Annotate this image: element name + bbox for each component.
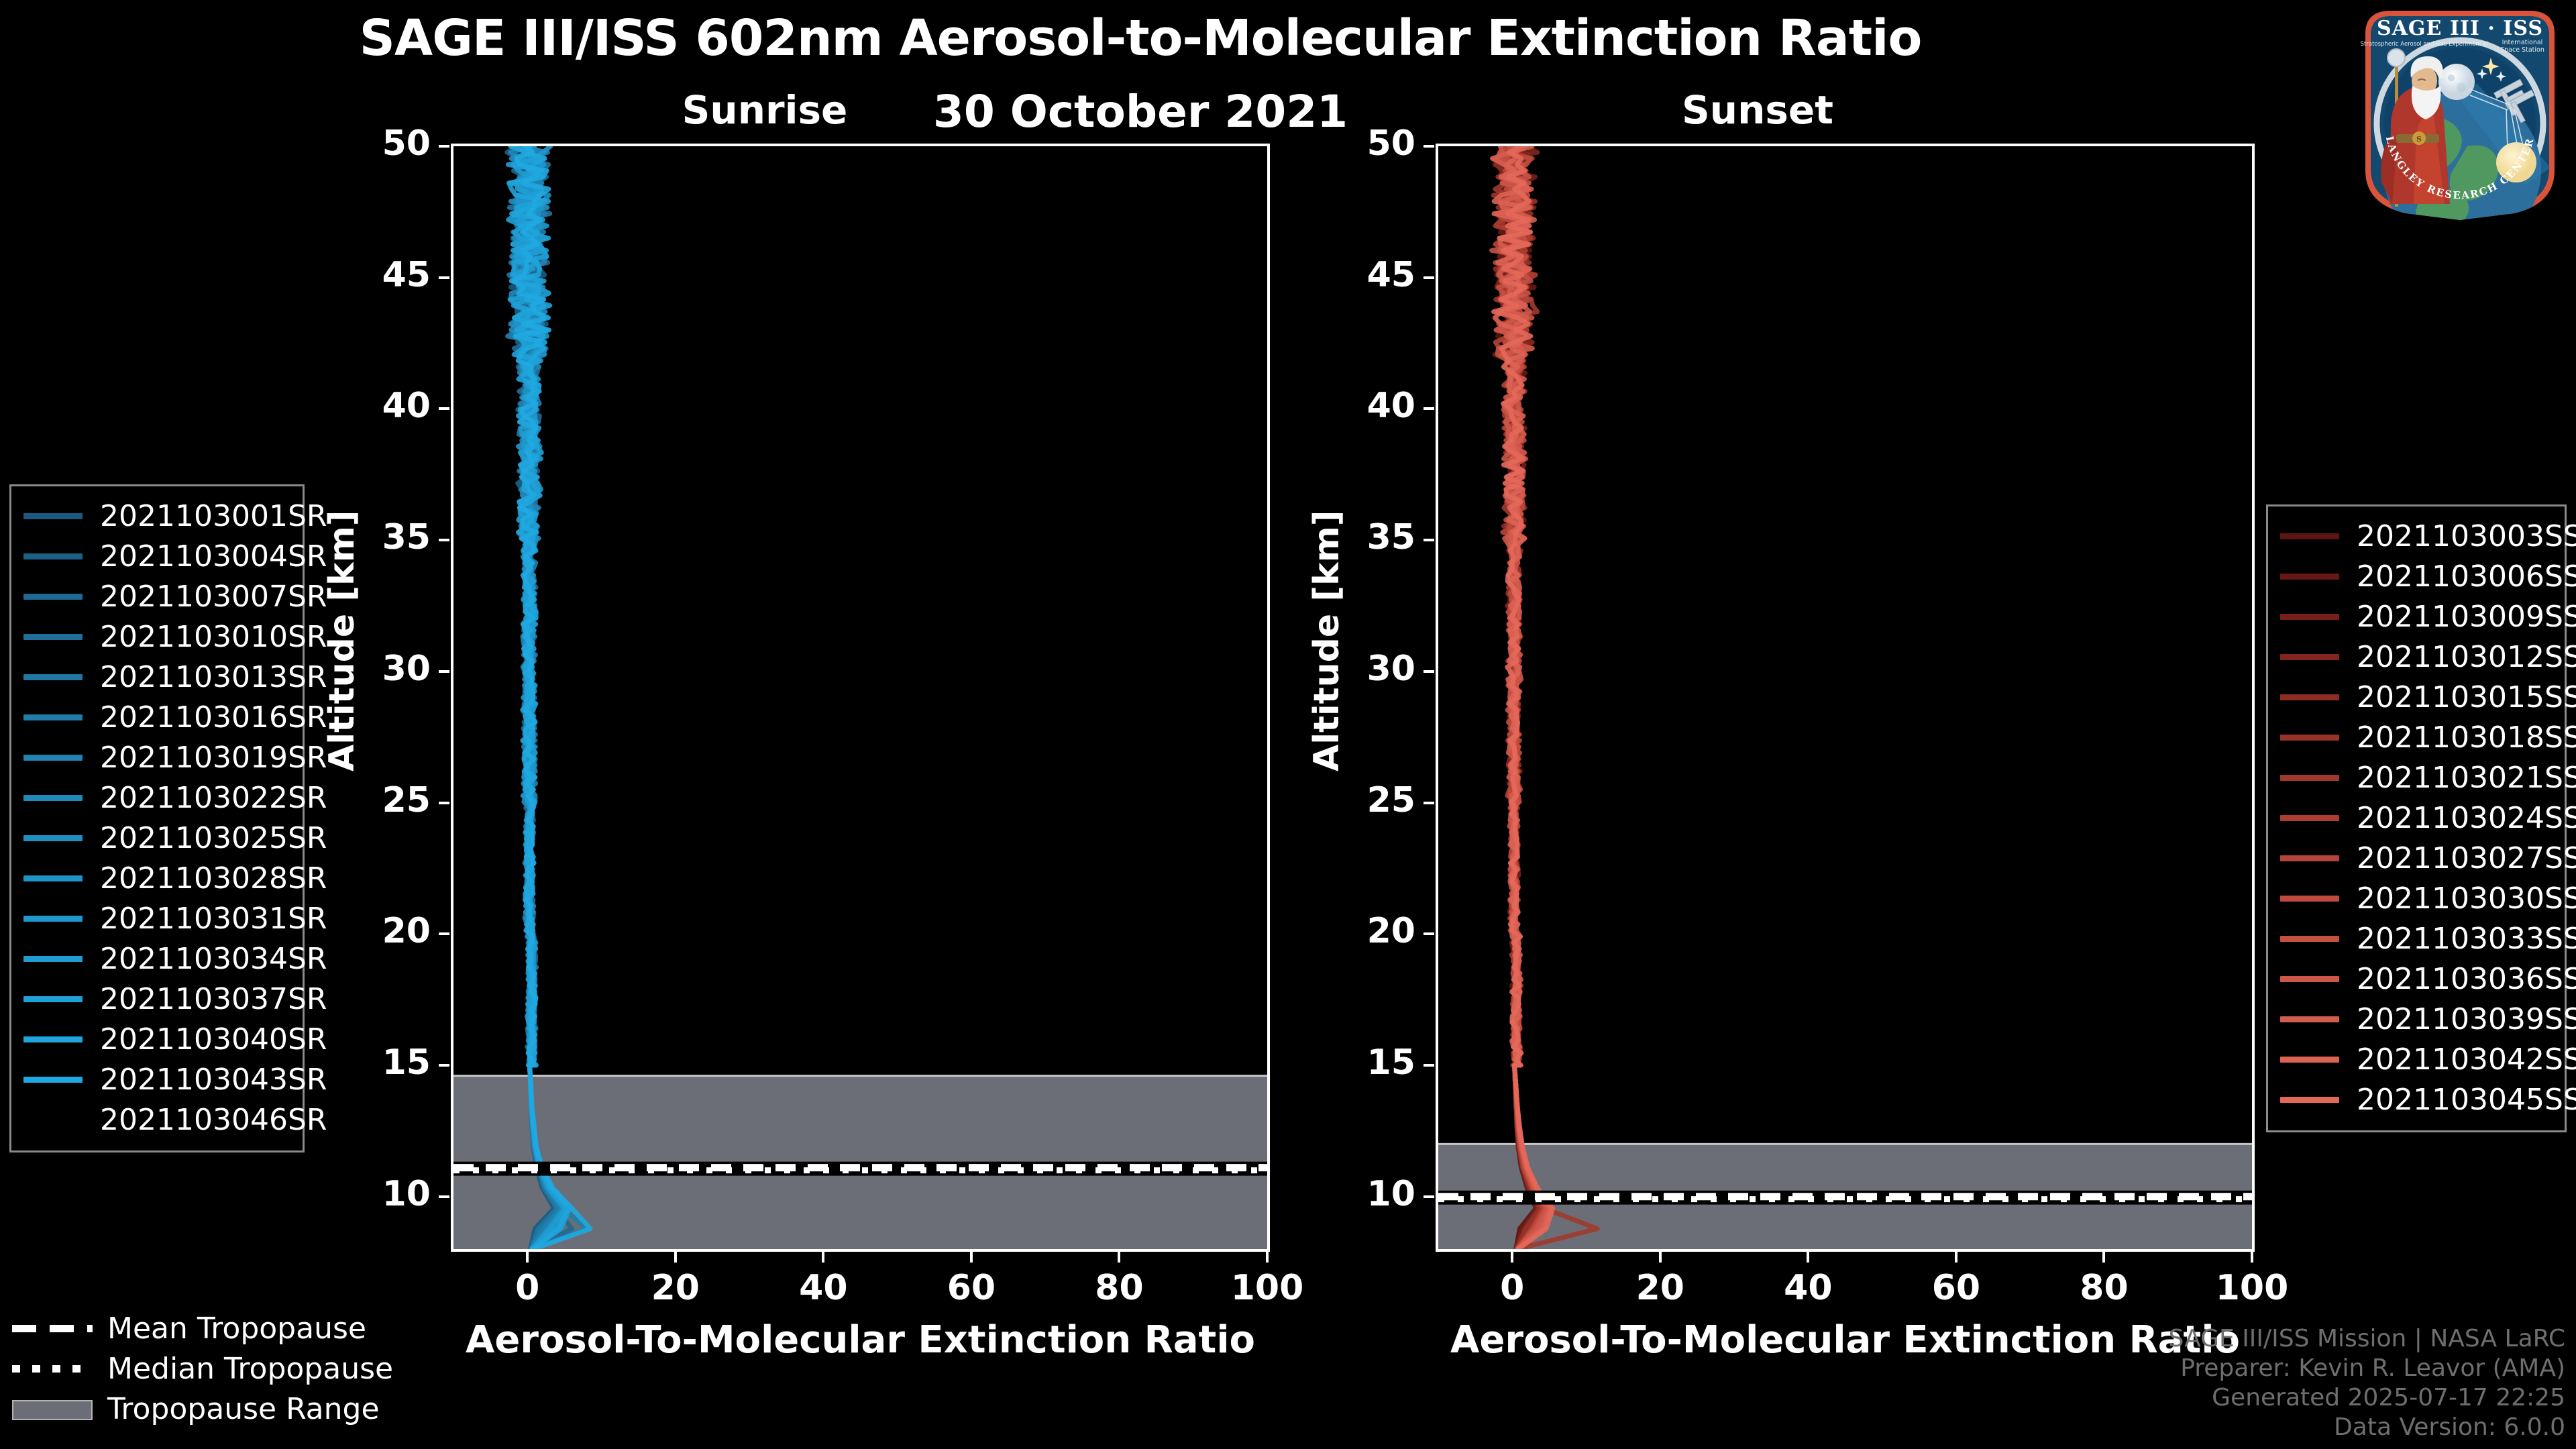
legend-item-label: 2021103027SS (2357, 841, 2576, 875)
panel-label-sunrise: Sunrise (563, 87, 966, 133)
legend-color-swatch (2280, 1097, 2339, 1103)
x-tick-mark (526, 1252, 529, 1263)
legend-item-label: 2021103046SR (100, 1103, 327, 1137)
y-tick-label: 50 (1328, 123, 1415, 164)
legend-sunrise-item[interactable]: 2021103019SR (23, 737, 290, 777)
plot-canvas-sunset (1438, 146, 2252, 1249)
page-title: SAGE III/ISS 602nm Aerosol-to-Molecular … (0, 9, 2281, 67)
y-tick-mark (1424, 539, 1434, 541)
x-tick-mark (2251, 1252, 2253, 1263)
legend-item-label: 2021103042SS (2357, 1042, 2576, 1077)
logo-subtitle-right-2: Space Station (2500, 46, 2544, 54)
y-tick-mark (439, 539, 449, 541)
legend-item-label: 2021103030SS (2357, 881, 2576, 916)
y-tick-label: 25 (343, 780, 431, 820)
legend-item-label: 2021103016SR (100, 700, 327, 735)
legend-color-swatch (23, 513, 83, 519)
legend-color-swatch (2280, 815, 2339, 821)
legend-item-label: 2021103028SR (100, 861, 327, 896)
legend-color-swatch (23, 835, 83, 841)
legend-color-swatch (2280, 735, 2339, 741)
legend-color-swatch (2280, 1016, 2339, 1022)
x-tick-label: 100 (2185, 1268, 2319, 1308)
legend-sunrise-item[interactable]: 2021103043SR (23, 1059, 290, 1099)
legend-sunrise-item[interactable]: 2021103010SR (23, 616, 290, 657)
y-tick-mark (1424, 145, 1434, 148)
legend-color-swatch (23, 634, 83, 640)
legend-color-swatch (23, 553, 83, 559)
x-axis-title-sunrise: Aerosol-To-Molecular Extinction Ratio (451, 1318, 1270, 1362)
legend-sunrise-item[interactable]: 2021103028SR (23, 858, 290, 898)
legend-color-swatch (2280, 775, 2339, 781)
legend-item-label: 2021103033SS (2357, 922, 2576, 956)
legend-color-swatch (23, 755, 83, 761)
credit-line-generated: Generated 2025-07-17 22:25 (2169, 1383, 2565, 1413)
x-tick-label: 80 (1052, 1268, 1186, 1308)
tropopause-legend-key (12, 1360, 93, 1377)
legend-sunrise-item[interactable]: 2021103004SR (23, 536, 290, 576)
tropopause-legend-label: Median Tropopause (107, 1352, 393, 1386)
sage-iii-iss-logo: S SAGE III · ISS Stratospheric Aerosol a… (2349, 3, 2571, 224)
y-tick-label: 35 (1328, 517, 1415, 557)
y-tick-mark (1424, 407, 1434, 410)
legend-color-swatch (23, 714, 83, 720)
y-tick-mark (1424, 932, 1434, 935)
x-tick-mark (1511, 1252, 1513, 1263)
x-tick-label: 20 (608, 1268, 743, 1308)
legend-sunset-item[interactable]: 2021103036SS (2280, 959, 2553, 999)
legend-item-label: 2021103012SS (2357, 640, 2576, 674)
y-tick-mark (439, 145, 449, 148)
legend-item-label: 2021103034SR (100, 942, 327, 976)
tropopause-legend-item: Mean Tropopause (12, 1308, 428, 1348)
credit-line-mission: SAGE III/ISS Mission | NASA LaRC (2169, 1324, 2565, 1354)
x-tick-mark (1955, 1252, 1957, 1263)
legend-color-swatch (2280, 533, 2339, 539)
panel-label-sunset: Sunset (1556, 87, 1959, 133)
y-tick-mark (439, 932, 449, 935)
legend-sunset-item[interactable]: 2021103024SS (2280, 798, 2553, 838)
x-tick-mark (1266, 1252, 1269, 1263)
x-tick-label: 40 (1741, 1268, 1875, 1308)
y-tick-label: 30 (343, 649, 431, 689)
legend-item-label: 2021103039SS (2357, 1002, 2576, 1036)
legend-color-swatch (23, 956, 83, 962)
tropopause-line-swatch (12, 1365, 93, 1373)
plot-sunset (1436, 144, 2255, 1252)
legend-item-label: 2021103006SS (2357, 559, 2576, 594)
legend-item-label: 2021103021SS (2357, 761, 2576, 795)
legend-color-swatch (2280, 936, 2339, 942)
legend-item-label: 2021103013SR (100, 660, 327, 694)
x-tick-mark (1659, 1252, 1662, 1263)
legend-color-swatch (23, 795, 83, 801)
legend-sunset-item[interactable]: 2021103003SS (2280, 516, 2553, 556)
y-tick-label: 50 (343, 123, 431, 164)
legend-color-swatch (2280, 896, 2339, 902)
y-tick-mark (1424, 276, 1434, 279)
legend-item-label: 2021103001SR (100, 499, 327, 533)
legend-sunrise-item[interactable]: 2021103001SR (23, 496, 290, 536)
credit-line-preparer: Preparer: Kevin R. Leavor (AMA) (2169, 1354, 2565, 1383)
y-tick-mark (439, 1064, 449, 1067)
tropopause-legend-key (12, 1400, 93, 1417)
x-tick-label: 20 (1593, 1268, 1727, 1308)
legend-sunrise-item[interactable]: 2021103022SR (23, 777, 290, 818)
x-tick-mark (1807, 1252, 1809, 1263)
legend-color-swatch (23, 1117, 83, 1123)
legend-sunrise-item[interactable]: 2021103031SR (23, 898, 290, 938)
legend-sunrise-item[interactable]: 2021103025SR (23, 818, 290, 858)
x-tick-label: 0 (1445, 1268, 1579, 1308)
legend-sunrise[interactable]: 2021103001SR2021103004SR2021103007SR2021… (9, 484, 305, 1152)
x-axis-title-sunset: Aerosol-To-Molecular Extinction Ratio (1436, 1318, 2255, 1362)
legend-color-swatch (23, 674, 83, 680)
x-tick-mark (1118, 1252, 1120, 1263)
legend-tropopause: Mean TropopauseMedian TropopauseTropopau… (12, 1308, 428, 1429)
y-tick-mark (439, 1195, 449, 1198)
legend-sunset-item[interactable]: 2021103006SS (2280, 556, 2553, 596)
legend-sunrise-item[interactable]: 2021103016SR (23, 697, 290, 737)
legend-item-label: 2021103003SS (2357, 519, 2576, 553)
legend-color-swatch (2280, 574, 2339, 580)
y-tick-mark (439, 276, 449, 279)
y-tick-label: 10 (343, 1174, 431, 1214)
legend-sunrise-item[interactable]: 2021103040SR (23, 1019, 290, 1059)
tropopause-legend-item: Median Tropopause (12, 1348, 428, 1389)
x-tick-mark (822, 1252, 824, 1263)
legend-item-label: 2021103007SR (100, 580, 327, 614)
legend-item-label: 2021103004SR (100, 539, 327, 574)
x-tick-label: 100 (1200, 1268, 1334, 1308)
y-tick-mark (1424, 1064, 1434, 1067)
legend-sunset-item[interactable]: 2021103045SS (2280, 1079, 2553, 1120)
x-tick-mark (2102, 1252, 2105, 1263)
y-tick-mark (439, 670, 449, 673)
y-tick-label: 20 (343, 911, 431, 951)
legend-color-swatch (2280, 654, 2339, 660)
legend-sunset-item[interactable]: 2021103033SS (2280, 918, 2553, 959)
y-tick-label: 35 (343, 517, 431, 557)
tropopause-legend-item: Tropopause Range (12, 1389, 428, 1429)
legend-item-label: 2021103015SS (2357, 680, 2576, 714)
legend-sunset-item[interactable]: 2021103027SS (2280, 838, 2553, 878)
legend-item-label: 2021103018SS (2357, 720, 2576, 755)
legend-sunrise-item[interactable]: 2021103013SR (23, 657, 290, 697)
tropopause-legend-key (12, 1320, 93, 1337)
legend-sunset-item[interactable]: 2021103009SS (2280, 596, 2553, 637)
legend-sunrise-item[interactable]: 2021103037SR (23, 979, 290, 1019)
credits-block: SAGE III/ISS Mission | NASA LaRC Prepare… (2169, 1324, 2565, 1442)
y-tick-label: 40 (1328, 386, 1415, 426)
legend-sunset-item[interactable]: 2021103018SS (2280, 717, 2553, 757)
y-tick-label: 45 (343, 255, 431, 295)
y-tick-label: 20 (1328, 911, 1415, 951)
y-tick-label: 25 (1328, 780, 1415, 820)
legend-item-label: 2021103040SR (100, 1022, 327, 1057)
legend-item-label: 2021103022SR (100, 781, 327, 815)
legend-sunset-item[interactable]: 2021103021SS (2280, 757, 2553, 798)
legend-color-swatch (23, 875, 83, 881)
y-tick-label: 15 (343, 1042, 431, 1083)
legend-color-swatch (2280, 1057, 2339, 1063)
legend-item-label: 2021103037SR (100, 982, 327, 1016)
legend-color-swatch (2280, 976, 2339, 982)
legend-item-label: 2021103036SS (2357, 962, 2576, 996)
logo-subtitle-right-1: International (2502, 39, 2543, 46)
credit-line-version: Data Version: 6.0.0 (2169, 1413, 2565, 1442)
y-tick-mark (1424, 802, 1434, 804)
tropopause-range-swatch (12, 1400, 93, 1420)
x-tick-label: 60 (904, 1268, 1038, 1308)
legend-item-label: 2021103010SR (100, 620, 327, 654)
logo-title: SAGE III · ISS (2377, 17, 2543, 40)
x-tick-mark (970, 1252, 973, 1263)
legend-sunset-item[interactable]: 2021103042SS (2280, 1039, 2553, 1079)
legend-item-label: 2021103043SR (100, 1063, 327, 1097)
tropopause-legend-label: Mean Tropopause (107, 1311, 366, 1346)
legend-color-swatch (2280, 694, 2339, 700)
y-tick-label: 10 (1328, 1174, 1415, 1214)
legend-sunset-item[interactable]: 2021103015SS (2280, 677, 2553, 717)
y-tick-label: 40 (343, 386, 431, 426)
plot-sunrise (451, 144, 1270, 1252)
logo-subtitle-left: Stratospheric Aerosol and Gas Experiment… (2361, 41, 2489, 48)
y-tick-mark (439, 802, 449, 804)
logo-moon (2438, 64, 2475, 100)
tropopause-line-swatch (12, 1325, 93, 1332)
legend-item-label: 2021103019SR (100, 741, 327, 775)
y-tick-mark (1424, 670, 1434, 673)
legend-sunset-item[interactable]: 2021103030SS (2280, 878, 2553, 918)
logo-svg: S SAGE III · ISS Stratospheric Aerosol a… (2349, 3, 2571, 224)
x-tick-label: 0 (460, 1268, 594, 1308)
legend-item-label: 2021103045SS (2357, 1083, 2576, 1117)
legend-item-label: 2021103031SR (100, 902, 327, 936)
y-tick-mark (1424, 1195, 1434, 1198)
legend-color-swatch (2280, 855, 2339, 861)
x-tick-mark (674, 1252, 677, 1263)
y-tick-mark (439, 407, 449, 410)
legend-color-swatch (23, 594, 83, 600)
tropopause-legend-label: Tropopause Range (107, 1392, 380, 1426)
svg-text:S: S (2416, 135, 2422, 144)
legend-sunset[interactable]: 2021103003SS2021103006SS2021103009SS2021… (2266, 504, 2567, 1132)
legend-color-swatch (23, 1036, 83, 1042)
legend-sunrise-item[interactable]: 2021103007SR (23, 576, 290, 616)
legend-item-label: 2021103009SS (2357, 600, 2576, 634)
logo-moon-crater (2448, 74, 2455, 81)
x-tick-label: 40 (756, 1268, 890, 1308)
logo-moon-crater-2 (2457, 83, 2466, 92)
legend-item-label: 2021103024SS (2357, 801, 2576, 835)
y-tick-label: 30 (1328, 649, 1415, 689)
legend-item-label: 2021103025SR (100, 821, 327, 855)
legend-sunset-item[interactable]: 2021103039SS (2280, 999, 2553, 1039)
legend-color-swatch (23, 1077, 83, 1083)
plot-canvas-sunrise (453, 146, 1267, 1249)
legend-color-swatch (2280, 614, 2339, 620)
x-tick-label: 80 (2037, 1268, 2171, 1308)
legend-color-swatch (23, 916, 83, 922)
legend-sunrise-item[interactable]: 2021103034SR (23, 938, 290, 979)
legend-sunrise-item[interactable]: 2021103046SR (23, 1099, 290, 1140)
y-tick-label: 15 (1328, 1042, 1415, 1083)
x-tick-label: 60 (1889, 1268, 2023, 1308)
legend-sunset-item[interactable]: 2021103012SS (2280, 637, 2553, 677)
y-tick-label: 45 (1328, 255, 1415, 295)
legend-color-swatch (23, 996, 83, 1002)
